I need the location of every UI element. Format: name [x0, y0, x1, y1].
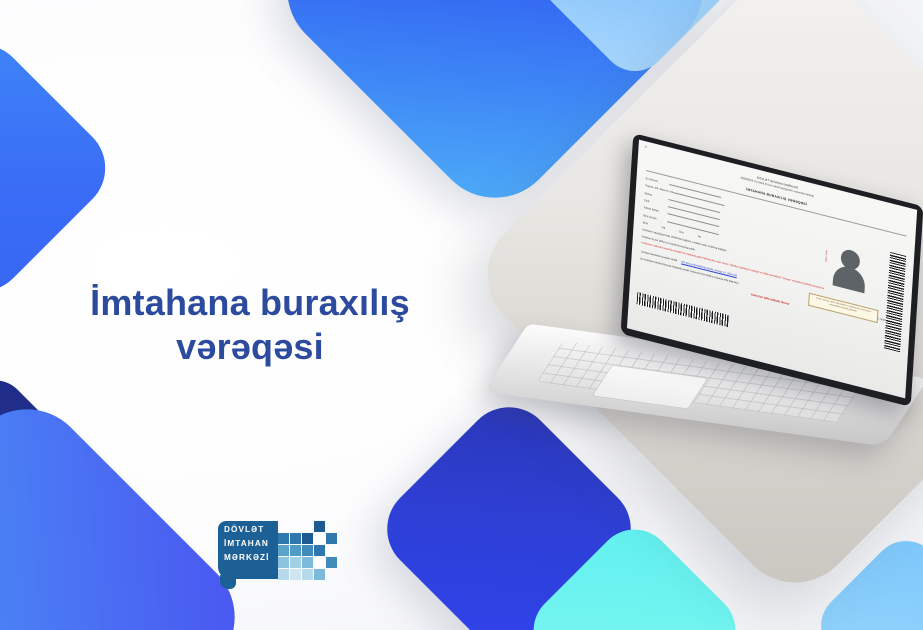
- headline-line-1: İmtahana buraxılış: [40, 281, 460, 325]
- person-avatar-icon: [826, 243, 873, 304]
- logo-line-3: Mərkəzi: [224, 551, 270, 565]
- column-header: Zal: [662, 226, 666, 231]
- column-header: Sıra: [679, 231, 684, 236]
- dim-logo: Dövlət İmtahan Mərkəzi: [218, 515, 338, 587]
- diamond-bottom-left-icon: [0, 384, 260, 630]
- banner-canvas: İmtahana buraxılış vərəqəsi Dövlət İmtah…: [0, 0, 923, 630]
- document-photo: [825, 240, 874, 304]
- laptop-illustration: № DÖVLƏT İMTAHAN MƏRKƏZİ 2023/2024-cü tə…: [506, 170, 923, 450]
- column-header: Yer: [697, 235, 701, 240]
- barcode-vertical-icon: [884, 252, 906, 352]
- logo-line-1: Dövlət: [224, 523, 270, 537]
- logo-line-2: İmtahan: [224, 537, 270, 551]
- page-title: İmtahana buraxılış vərəqəsi: [40, 281, 460, 369]
- barcode-horizontal-icon: [637, 292, 729, 327]
- logo-text: Dövlət İmtahan Mərkəzi: [224, 523, 270, 565]
- headline-line-2: vərəqəsi: [40, 325, 460, 369]
- diamond-top-left-icon: [0, 27, 123, 310]
- column-header: Bina: [643, 221, 648, 226]
- logo-pixel-grid: [278, 515, 338, 587]
- document-corner-id: №: [644, 146, 647, 150]
